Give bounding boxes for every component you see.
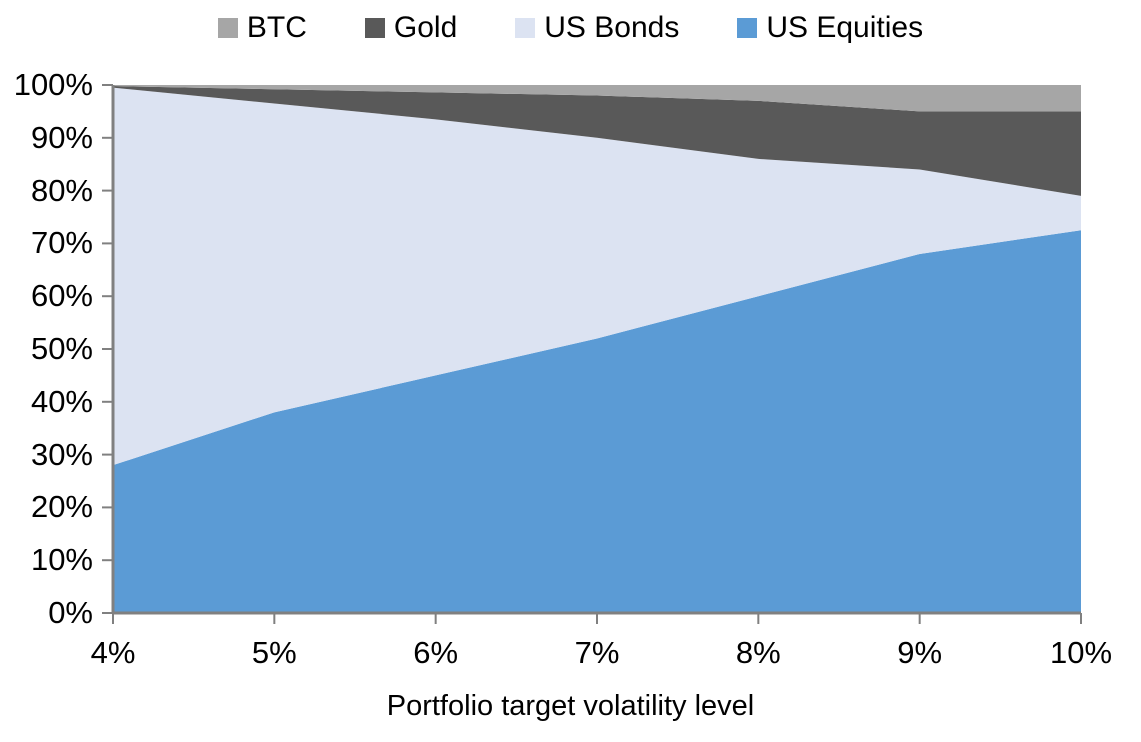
series-areas [113,85,1081,613]
y-tick-label-70: 70% [0,227,93,258]
x-tick-label-4: 4% [33,637,193,668]
y-tick-label-20: 20% [0,491,93,522]
x-tick-label-6: 6% [356,637,516,668]
y-tick-label-50: 50% [0,333,93,364]
x-tick-label-7: 7% [517,637,677,668]
y-tick-label-60: 60% [0,280,93,311]
x-axis-ticks [113,613,1081,624]
y-tick-label-0: 0% [0,597,93,628]
x-tick-label-9: 9% [840,637,1000,668]
x-tick-label-10: 10% [1001,637,1141,668]
y-tick-label-80: 80% [0,175,93,206]
x-tick-label-5: 5% [194,637,354,668]
x-tick-label-8: 8% [678,637,838,668]
plot-svg [0,0,1141,742]
y-tick-label-40: 40% [0,386,93,417]
y-tick-label-100: 100% [0,69,93,100]
y-tick-label-10: 10% [0,544,93,575]
x-axis-title: Portfolio target volatility level [0,690,1141,722]
y-tick-label-90: 90% [0,122,93,153]
stacked-area-chart: BTC Gold US Bonds US Equities 100%90%80%… [0,0,1141,742]
y-tick-label-30: 30% [0,439,93,470]
plot-area: 100%90%80%70%60%50%40%30%20%10%0% 4%5%6%… [0,0,1141,742]
y-axis-ticks [102,85,113,613]
